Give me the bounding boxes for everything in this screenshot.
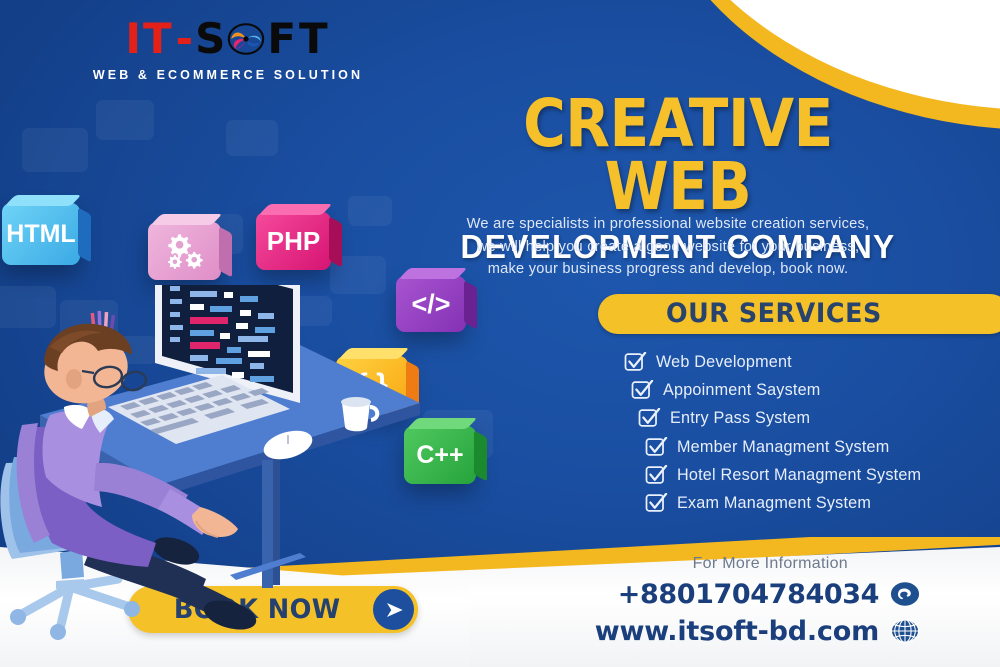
service-item[interactable]: Member Managment System <box>624 433 1000 461</box>
company-logo[interactable]: IT - S FT WEB & ECOMMERCE SOLUTION <box>78 16 378 82</box>
contact-phone-row[interactable]: +8801704784034 <box>500 579 920 609</box>
services-list: Web Development Appoinment Saystem Entry… <box>624 348 1000 517</box>
contact-more-info-label: For More Information <box>500 556 920 572</box>
logo-text-s: S <box>195 18 225 60</box>
service-item-label: Appoinment Saystem <box>663 382 820 398</box>
html-badge-icon: HTML <box>2 203 80 265</box>
checkbox-checked-icon <box>645 465 668 485</box>
php-badge-icon: PHP <box>256 212 331 270</box>
our-services-heading-text: OUR SERVICES <box>610 294 997 334</box>
description-paragraph: We are specialists in professional websi… <box>418 213 918 281</box>
contact-website-row[interactable]: www.itsoft-bd.com <box>500 616 920 646</box>
checkbox-checked-icon <box>645 437 668 457</box>
description-line-2: we will help you create a good website f… <box>418 236 918 259</box>
service-item-label: Web Development <box>656 354 792 370</box>
checkbox-checked-icon <box>631 380 654 400</box>
gears-glyph-icon <box>160 230 210 272</box>
service-item-label: Hotel Resort Managment System <box>677 467 921 483</box>
contact-website-url: www.itsoft-bd.com <box>595 618 879 645</box>
gears-badge-icon <box>148 222 221 280</box>
service-item-label: Exam Managment System <box>677 495 871 511</box>
checkbox-checked-icon <box>645 493 668 513</box>
service-item[interactable]: Entry Pass System <box>624 404 1000 432</box>
service-item[interactable]: Exam Managment System <box>624 489 1000 517</box>
globe-icon <box>890 616 920 646</box>
globe-swirl-icon <box>226 21 266 57</box>
headline-primary: CREATIVE WEB <box>449 92 907 219</box>
service-item[interactable]: Hotel Resort Managment System <box>624 461 1000 489</box>
logo-tagline: WEB & ECOMMERCE SOLUTION <box>78 69 378 82</box>
promotional-banner: IT - S FT WEB & ECOMMERCE SOLUTION CREAT… <box>0 0 1000 667</box>
our-services-heading-pill: OUR SERVICES <box>598 294 1000 334</box>
checkbox-checked-icon <box>638 408 661 428</box>
description-line-1: We are specialists in professional websi… <box>418 213 918 236</box>
service-item-label: Entry Pass System <box>670 410 810 426</box>
checkbox-checked-icon <box>624 352 647 372</box>
phone-circle-icon <box>890 579 920 609</box>
service-item-label: Member Managment System <box>677 439 889 455</box>
service-item[interactable]: Web Development <box>624 348 1000 376</box>
developer-at-desk-illustration <box>0 285 430 645</box>
php-badge-label: PHP <box>267 228 320 254</box>
service-item[interactable]: Appoinment Saystem <box>624 376 1000 404</box>
logo-text-ft: FT <box>267 18 330 60</box>
description-line-3: make your business progress and develop,… <box>418 258 918 281</box>
contact-phone-number: +8801704784034 <box>618 581 879 608</box>
logo-text-dash: - <box>176 18 193 60</box>
logo-text-it: IT <box>125 18 173 60</box>
html-badge-label: HTML <box>6 222 75 247</box>
contact-block: For More Information +8801704784034 www.… <box>500 556 920 646</box>
